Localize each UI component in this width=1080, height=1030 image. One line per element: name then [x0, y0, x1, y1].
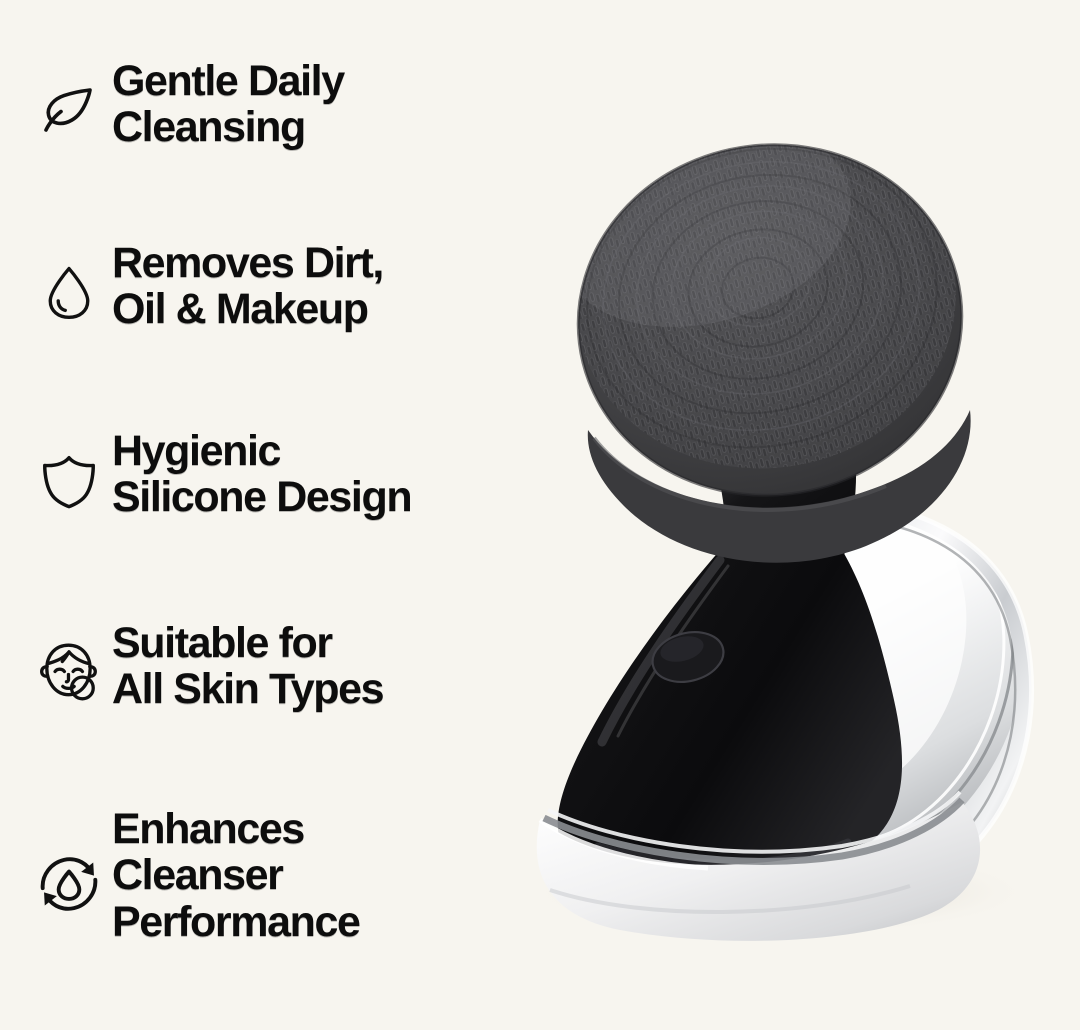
shield-icon: [26, 428, 112, 532]
product-image-silicone-facial-cleansing-brush: [470, 130, 1080, 960]
feature-label: Gentle Daily Cleansing: [112, 58, 344, 151]
refresh-drop-icon: [26, 806, 112, 961]
feature-item-hygienic-silicone-design: Hygienic Silicone Design: [26, 428, 411, 532]
feature-item-suitable-for-all-skin-types: Suitable for All Skin Types: [26, 620, 383, 724]
feature-item-removes-dirt-oil-makeup: Removes Dirt, Oil & Makeup: [26, 240, 383, 344]
feature-label: Removes Dirt, Oil & Makeup: [112, 240, 383, 333]
feature-label: Enhances Cleanser Performance: [112, 806, 360, 945]
leaf-icon: [26, 58, 112, 162]
water-drop-icon: [26, 240, 112, 344]
feature-item-enhances-cleanser-performance: Enhances Cleanser Performance: [26, 806, 360, 961]
feature-label: Suitable for All Skin Types: [112, 620, 383, 713]
feature-item-gentle-daily-cleansing: Gentle Daily Cleansing: [26, 58, 344, 162]
product-feature-graphic: Gentle Daily Cleansing Removes Dirt, Oil…: [0, 0, 1080, 1030]
face-skincare-icon: [26, 620, 112, 724]
product-handle: [558, 426, 902, 883]
feature-label: Hygienic Silicone Design: [112, 428, 411, 521]
